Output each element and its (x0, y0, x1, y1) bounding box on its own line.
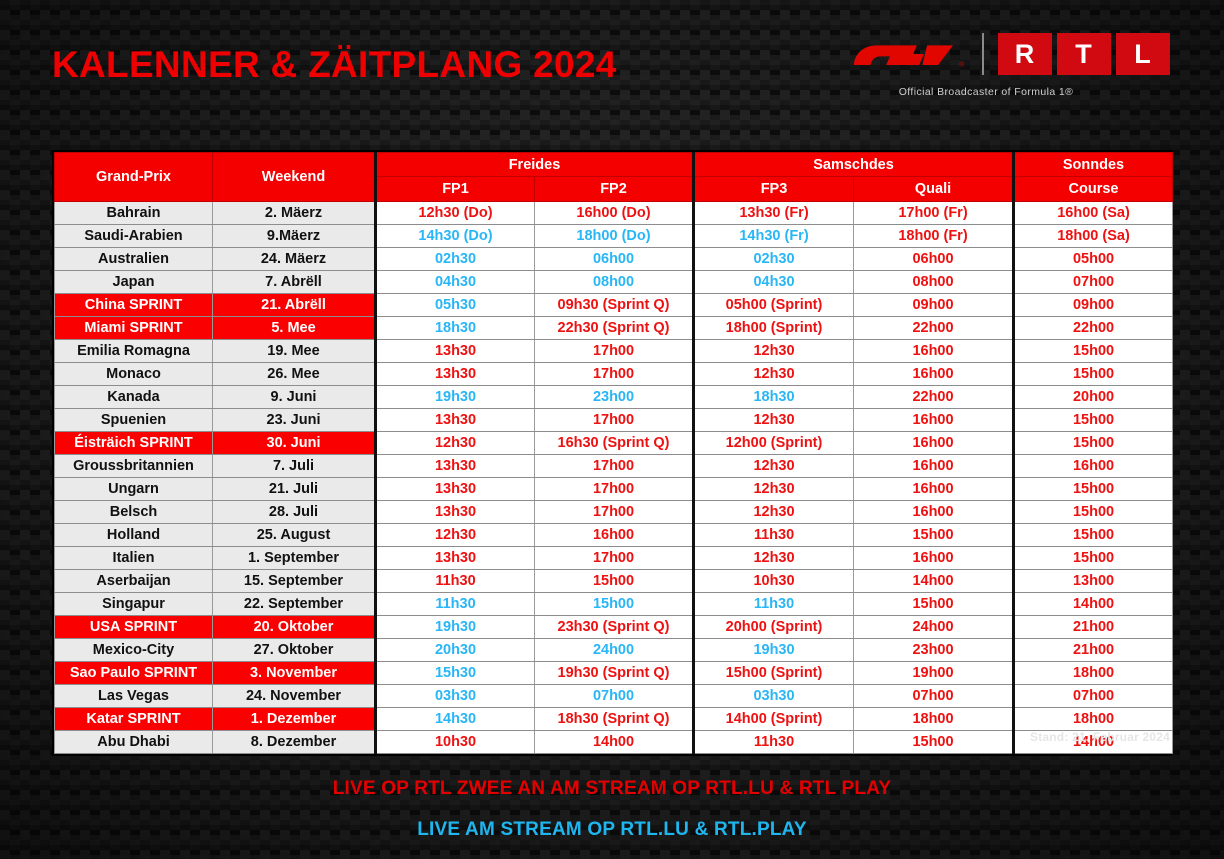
cell-quali: 23h00 (854, 639, 1014, 662)
cell-fp3: 14h00 (Sprint) (694, 708, 854, 731)
cell-course: 07h00 (1014, 685, 1173, 708)
cell-grand-prix: Katar SPRINT (55, 708, 213, 731)
cell-course: 15h00 (1014, 501, 1173, 524)
calendar-page: KALENNER & ZÄITPLANG 2024 ® R T L (0, 0, 1224, 859)
cell-quali: 15h00 (854, 593, 1014, 616)
cell-fp3: 19h30 (694, 639, 854, 662)
cell-quali: 16h00 (854, 455, 1014, 478)
table-row: Groussbritannien7. Juli13h3017h0012h3016… (55, 455, 1173, 478)
table-row: Miami SPRINT5. Mee18h3022h30 (Sprint Q)1… (55, 317, 1173, 340)
cell-fp3: 03h30 (694, 685, 854, 708)
table-row: Australien24. Mäerz02h3006h0002h3006h000… (55, 248, 1173, 271)
cell-fp1: 20h30 (376, 639, 535, 662)
broadcaster-tagline: Official Broadcaster of Formula 1® (830, 86, 1170, 98)
cell-grand-prix: USA SPRINT (55, 616, 213, 639)
rtl-letter-t: T (1057, 33, 1111, 75)
cell-quali: 16h00 (854, 409, 1014, 432)
cell-grand-prix: Las Vegas (55, 685, 213, 708)
schedule-table: Grand-Prix Weekend Freides Samschdes Son… (54, 152, 1173, 754)
cell-weekend: 21. Juli (213, 478, 376, 501)
cell-fp1: 14h30 (Do) (376, 225, 535, 248)
cell-weekend: 7. Abrëll (213, 271, 376, 294)
cell-fp1: 12h30 (376, 432, 535, 455)
cell-weekend: 26. Mee (213, 363, 376, 386)
table-row: Belsch28. Juli13h3017h0012h3016h0015h00 (55, 501, 1173, 524)
cell-fp2: 15h00 (535, 570, 694, 593)
cell-fp1: 13h30 (376, 501, 535, 524)
cell-fp1: 02h30 (376, 248, 535, 271)
cell-fp1: 18h30 (376, 317, 535, 340)
cell-quali: 16h00 (854, 432, 1014, 455)
cell-fp3: 12h30 (694, 409, 854, 432)
cell-fp1: 13h30 (376, 363, 535, 386)
cell-fp1: 11h30 (376, 570, 535, 593)
column-header-grand-prix: Grand-Prix (55, 153, 213, 202)
cell-weekend: 1. Dezember (213, 708, 376, 731)
cell-quali: 17h00 (Fr) (854, 202, 1014, 225)
table-row: Italien1. September13h3017h0012h3016h001… (55, 547, 1173, 570)
cell-course: 21h00 (1014, 616, 1173, 639)
cell-fp1: 13h30 (376, 409, 535, 432)
cell-weekend: 30. Juni (213, 432, 376, 455)
cell-grand-prix: Groussbritannien (55, 455, 213, 478)
cell-quali: 16h00 (854, 478, 1014, 501)
cell-weekend: 21. Abrëll (213, 294, 376, 317)
cell-quali: 15h00 (854, 731, 1014, 754)
cell-grand-prix: Emilia Romagna (55, 340, 213, 363)
cell-course: 15h00 (1014, 409, 1173, 432)
cell-fp1: 15h30 (376, 662, 535, 685)
cell-fp2: 18h00 (Do) (535, 225, 694, 248)
cell-fp3: 11h30 (694, 524, 854, 547)
cell-fp3: 12h30 (694, 478, 854, 501)
cell-fp1: 14h30 (376, 708, 535, 731)
cell-fp2: 16h00 (Do) (535, 202, 694, 225)
cell-fp2: 17h00 (535, 547, 694, 570)
cell-grand-prix: Singapur (55, 593, 213, 616)
cell-fp1: 13h30 (376, 547, 535, 570)
cell-course: 13h00 (1014, 570, 1173, 593)
cell-fp1: 03h30 (376, 685, 535, 708)
cell-fp3: 12h30 (694, 501, 854, 524)
cell-weekend: 15. September (213, 570, 376, 593)
cell-fp1: 11h30 (376, 593, 535, 616)
cell-quali: 08h00 (854, 271, 1014, 294)
cell-course: 16h00 (1014, 455, 1173, 478)
cell-weekend: 22. September (213, 593, 376, 616)
cell-course: 18h00 (1014, 662, 1173, 685)
cell-fp2: 14h00 (535, 731, 694, 754)
cell-fp3: 12h30 (694, 340, 854, 363)
cell-fp3: 12h30 (694, 363, 854, 386)
cell-fp3: 05h00 (Sprint) (694, 294, 854, 317)
column-group-header-sonndes: Sonndes (1014, 153, 1173, 177)
cell-weekend: 3. November (213, 662, 376, 685)
cell-course: 18h00 (1014, 708, 1173, 731)
table-row: Sao Paulo SPRINT3. November15h3019h30 (S… (55, 662, 1173, 685)
cell-quali: 07h00 (854, 685, 1014, 708)
svg-text:®: ® (959, 61, 964, 69)
page-header: KALENNER & ZÄITPLANG 2024 ® R T L (0, 22, 1224, 108)
cell-fp2: 07h00 (535, 685, 694, 708)
cell-fp2: 24h00 (535, 639, 694, 662)
cell-fp2: 16h00 (535, 524, 694, 547)
f1-logo-icon: ® (850, 33, 968, 75)
cell-fp3: 12h30 (694, 455, 854, 478)
table-row: Emilia Romagna19. Mee13h3017h0012h3016h0… (55, 340, 1173, 363)
cell-fp2: 17h00 (535, 363, 694, 386)
table-group-header-row: Grand-Prix Weekend Freides Samschdes Son… (55, 153, 1173, 177)
cell-quali: 14h00 (854, 570, 1014, 593)
table-row: Saudi-Arabien9.Mäerz14h30 (Do)18h00 (Do)… (55, 225, 1173, 248)
column-header-fp1: FP1 (376, 177, 535, 202)
cell-fp2: 17h00 (535, 340, 694, 363)
column-header-fp2: FP2 (535, 177, 694, 202)
cell-course: 15h00 (1014, 478, 1173, 501)
table-row: Singapur22. September11h3015h0011h3015h0… (55, 593, 1173, 616)
cell-course: 15h00 (1014, 340, 1173, 363)
cell-quali: 16h00 (854, 547, 1014, 570)
cell-grand-prix: Monaco (55, 363, 213, 386)
cell-course: 16h00 (Sa) (1014, 202, 1173, 225)
broadcaster-logo-block: ® R T L Official Broadcaster of Formula … (830, 28, 1170, 106)
cell-fp2: 23h00 (535, 386, 694, 409)
schedule-table-container: Grand-Prix Weekend Freides Samschdes Son… (52, 150, 1172, 756)
cell-fp2: 17h00 (535, 478, 694, 501)
cell-grand-prix: Aserbaijan (55, 570, 213, 593)
live-broadcast-line-2: LIVE AM STREAM OP RTL.LU & RTL.PLAY (0, 819, 1224, 841)
table-body: Bahrain2. Mäerz12h30 (Do)16h00 (Do)13h30… (55, 202, 1173, 754)
table-row: Éisträich SPRINT30. Juni12h3016h30 (Spri… (55, 432, 1173, 455)
cell-weekend: 19. Mee (213, 340, 376, 363)
cell-grand-prix: Ungarn (55, 478, 213, 501)
cell-course: 18h00 (Sa) (1014, 225, 1173, 248)
cell-weekend: 28. Juli (213, 501, 376, 524)
cell-weekend: 1. September (213, 547, 376, 570)
cell-quali: 16h00 (854, 363, 1014, 386)
cell-grand-prix: Belsch (55, 501, 213, 524)
cell-fp1: 13h30 (376, 340, 535, 363)
cell-quali: 16h00 (854, 340, 1014, 363)
table-row: Katar SPRINT1. Dezember14h3018h30 (Sprin… (55, 708, 1173, 731)
table-row: Mexico-City27. Oktober20h3024h0019h3023h… (55, 639, 1173, 662)
cell-fp2: 18h30 (Sprint Q) (535, 708, 694, 731)
cell-weekend: 27. Oktober (213, 639, 376, 662)
cell-grand-prix: Holland (55, 524, 213, 547)
column-group-header-samschdes: Samschdes (694, 153, 1014, 177)
cell-grand-prix: Spuenien (55, 409, 213, 432)
table-head: Grand-Prix Weekend Freides Samschdes Son… (55, 153, 1173, 202)
table-row: Bahrain2. Mäerz12h30 (Do)16h00 (Do)13h30… (55, 202, 1173, 225)
cell-fp2: 19h30 (Sprint Q) (535, 662, 694, 685)
cell-weekend: 2. Mäerz (213, 202, 376, 225)
column-header-quali: Quali (854, 177, 1014, 202)
cell-fp3: 18h30 (694, 386, 854, 409)
table-row: Ungarn21. Juli13h3017h0012h3016h0015h00 (55, 478, 1173, 501)
table-row: Spuenien23. Juni13h3017h0012h3016h0015h0… (55, 409, 1173, 432)
cell-course: 15h00 (1014, 432, 1173, 455)
cell-weekend: 24. Mäerz (213, 248, 376, 271)
cell-fp2: 09h30 (Sprint Q) (535, 294, 694, 317)
cell-grand-prix: Bahrain (55, 202, 213, 225)
cell-grand-prix: Italien (55, 547, 213, 570)
cell-quali: 22h00 (854, 317, 1014, 340)
cell-fp1: 05h30 (376, 294, 535, 317)
cell-fp2: 15h00 (535, 593, 694, 616)
rtl-logo: R T L (998, 33, 1170, 75)
cell-weekend: 25. August (213, 524, 376, 547)
cell-fp2: 17h00 (535, 409, 694, 432)
cell-weekend: 9.Mäerz (213, 225, 376, 248)
cell-course: 07h00 (1014, 271, 1173, 294)
cell-fp1: 13h30 (376, 455, 535, 478)
cell-fp1: 12h30 (Do) (376, 202, 535, 225)
cell-weekend: 5. Mee (213, 317, 376, 340)
cell-quali: 06h00 (854, 248, 1014, 271)
logo-divider (982, 33, 984, 75)
cell-course: 21h00 (1014, 639, 1173, 662)
cell-course: 15h00 (1014, 524, 1173, 547)
cell-quali: 16h00 (854, 501, 1014, 524)
table-row: Las Vegas24. November03h3007h0003h3007h0… (55, 685, 1173, 708)
table-row: Japan7. Abrëll04h3008h0004h3008h0007h00 (55, 271, 1173, 294)
cell-fp3: 13h30 (Fr) (694, 202, 854, 225)
column-group-header-freides: Freides (376, 153, 694, 177)
cell-grand-prix: Australien (55, 248, 213, 271)
live-broadcast-line-1: LIVE OP RTL ZWEE AN AM STREAM OP RTL.LU … (0, 778, 1224, 800)
cell-fp1: 19h30 (376, 616, 535, 639)
cell-fp2: 17h00 (535, 455, 694, 478)
cell-course: 05h00 (1014, 248, 1173, 271)
cell-quali: 09h00 (854, 294, 1014, 317)
cell-weekend: 24. November (213, 685, 376, 708)
cell-course: 09h00 (1014, 294, 1173, 317)
cell-fp3: 11h30 (694, 731, 854, 754)
table-row: China SPRINT21. Abrëll05h3009h30 (Sprint… (55, 294, 1173, 317)
table-row: Aserbaijan15. September11h3015h0010h3014… (55, 570, 1173, 593)
cell-fp1: 13h30 (376, 478, 535, 501)
table-row: Holland25. August12h3016h0011h3015h0015h… (55, 524, 1173, 547)
table-row: Monaco26. Mee13h3017h0012h3016h0015h00 (55, 363, 1173, 386)
cell-grand-prix: Saudi-Arabien (55, 225, 213, 248)
cell-weekend: 7. Juli (213, 455, 376, 478)
cell-fp2: 08h00 (535, 271, 694, 294)
table-row: USA SPRINT20. Oktober19h3023h30 (Sprint … (55, 616, 1173, 639)
cell-fp3: 12h00 (Sprint) (694, 432, 854, 455)
cell-quali: 19h00 (854, 662, 1014, 685)
column-header-weekend: Weekend (213, 153, 376, 202)
table-row: Abu Dhabi8. Dezember10h3014h0011h3015h00… (55, 731, 1173, 754)
cell-grand-prix: China SPRINT (55, 294, 213, 317)
cell-grand-prix: Kanada (55, 386, 213, 409)
cell-fp3: 11h30 (694, 593, 854, 616)
cell-grand-prix: Abu Dhabi (55, 731, 213, 754)
cell-course: 22h00 (1014, 317, 1173, 340)
cell-course: 15h00 (1014, 363, 1173, 386)
cell-weekend: 20. Oktober (213, 616, 376, 639)
cell-course: 14h00 (1014, 593, 1173, 616)
logo-row: ® R T L (830, 28, 1170, 80)
cell-fp3: 02h30 (694, 248, 854, 271)
cell-weekend: 23. Juni (213, 409, 376, 432)
cell-fp1: 04h30 (376, 271, 535, 294)
cell-fp2: 22h30 (Sprint Q) (535, 317, 694, 340)
cell-fp3: 14h30 (Fr) (694, 225, 854, 248)
cell-fp3: 18h00 (Sprint) (694, 317, 854, 340)
cell-grand-prix: Mexico-City (55, 639, 213, 662)
cell-weekend: 8. Dezember (213, 731, 376, 754)
cell-fp3: 15h00 (Sprint) (694, 662, 854, 685)
column-header-course: Course (1014, 177, 1173, 202)
cell-fp3: 10h30 (694, 570, 854, 593)
table-row: Kanada9. Juni19h3023h0018h3022h0020h00 (55, 386, 1173, 409)
page-title: KALENNER & ZÄITPLANG 2024 (52, 44, 617, 86)
cell-fp1: 10h30 (376, 731, 535, 754)
cell-grand-prix: Éisträich SPRINT (55, 432, 213, 455)
cell-course: 20h00 (1014, 386, 1173, 409)
cell-quali: 18h00 (854, 708, 1014, 731)
cell-fp1: 19h30 (376, 386, 535, 409)
cell-grand-prix: Sao Paulo SPRINT (55, 662, 213, 685)
cell-fp2: 06h00 (535, 248, 694, 271)
cell-course: 15h00 (1014, 547, 1173, 570)
cell-weekend: 9. Juni (213, 386, 376, 409)
cell-fp2: 23h30 (Sprint Q) (535, 616, 694, 639)
cell-fp3: 04h30 (694, 271, 854, 294)
cell-quali: 18h00 (Fr) (854, 225, 1014, 248)
cell-fp1: 12h30 (376, 524, 535, 547)
cell-grand-prix: Japan (55, 271, 213, 294)
cell-quali: 24h00 (854, 616, 1014, 639)
cell-grand-prix: Miami SPRINT (55, 317, 213, 340)
last-updated-label: Stand: 21. Februar 2024 (1030, 730, 1170, 744)
column-header-fp3: FP3 (694, 177, 854, 202)
rtl-letter-l: L (1116, 33, 1170, 75)
cell-quali: 22h00 (854, 386, 1014, 409)
cell-fp2: 17h00 (535, 501, 694, 524)
cell-fp3: 20h00 (Sprint) (694, 616, 854, 639)
cell-fp2: 16h30 (Sprint Q) (535, 432, 694, 455)
cell-quali: 15h00 (854, 524, 1014, 547)
cell-fp3: 12h30 (694, 547, 854, 570)
rtl-letter-r: R (998, 33, 1052, 75)
